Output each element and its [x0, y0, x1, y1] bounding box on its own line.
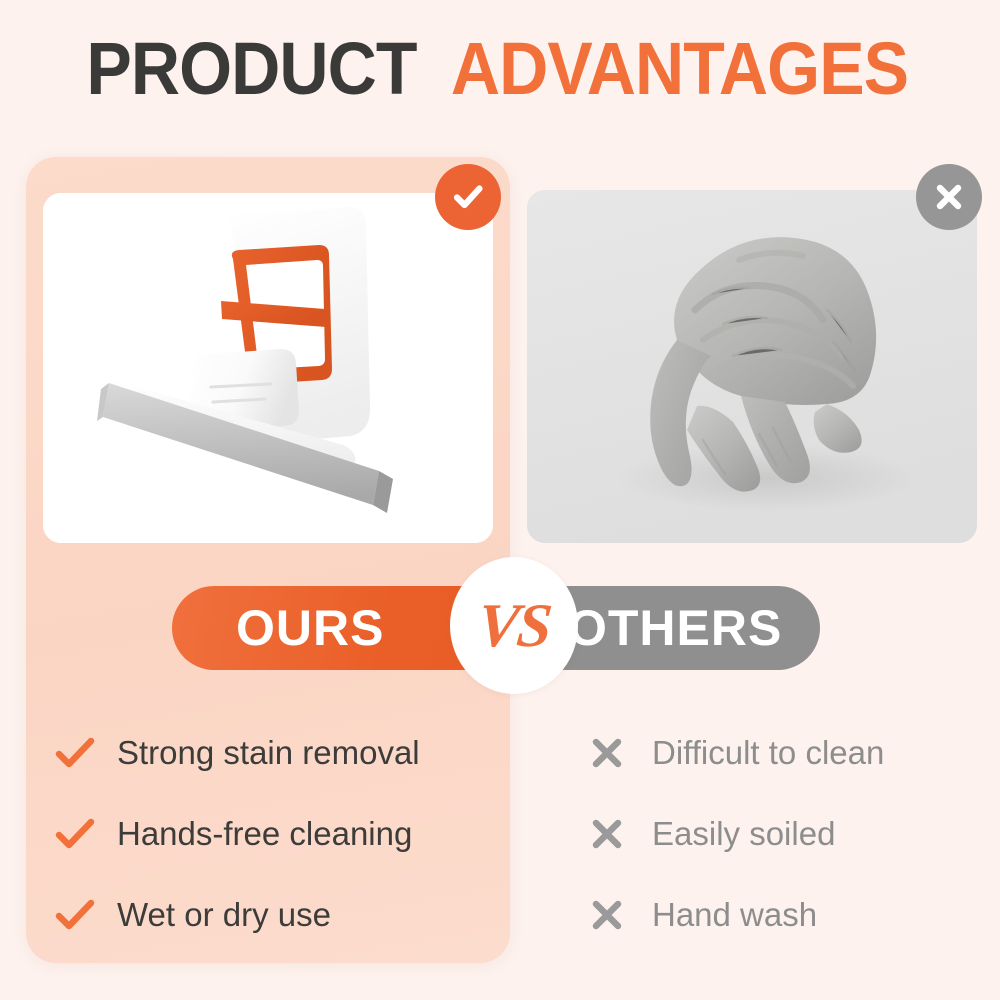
feature-label: Difficult to clean [652, 736, 884, 769]
squeegee-mop-illustration [43, 193, 493, 543]
feature-label: Wet or dry use [117, 898, 331, 931]
page-title: PRODUCT ADVANTAGES [0, 32, 1000, 106]
x-icon [590, 737, 636, 769]
feature-label: Easily soiled [652, 817, 835, 850]
check-icon [450, 179, 486, 215]
ours-product-image [43, 193, 493, 543]
check-icon [55, 818, 101, 850]
x-icon [590, 818, 636, 850]
vs-badge: VS [450, 557, 578, 694]
x-icon [590, 899, 636, 931]
list-item: Hand wash [590, 874, 980, 955]
page-title-primary: PRODUCT [86, 32, 416, 106]
list-item: Hands-free cleaning [55, 793, 495, 874]
microfiber-towel-illustration [527, 190, 977, 543]
feature-label: Hands-free cleaning [117, 817, 412, 850]
vs-badge-label: VS [475, 595, 553, 657]
feature-label: Strong stain removal [117, 736, 420, 769]
others-feature-list: Difficult to clean Easily soiled Hand wa… [590, 712, 980, 955]
list-item: Strong stain removal [55, 712, 495, 793]
list-item: Difficult to clean [590, 712, 980, 793]
list-item: Wet or dry use [55, 874, 495, 955]
others-product-image [527, 190, 977, 543]
ours-check-badge [435, 164, 501, 230]
check-icon [55, 737, 101, 769]
others-pill-label: OTHERS [568, 603, 782, 653]
ours-feature-list: Strong stain removal Hands-free cleaning… [55, 712, 495, 955]
list-item: Easily soiled [590, 793, 980, 874]
others-x-badge [916, 164, 982, 230]
check-icon [55, 899, 101, 931]
ours-pill-label: OURS [236, 603, 384, 653]
x-icon [932, 180, 966, 214]
page-title-accent: ADVANTAGES [451, 32, 908, 106]
feature-label: Hand wash [652, 898, 817, 931]
